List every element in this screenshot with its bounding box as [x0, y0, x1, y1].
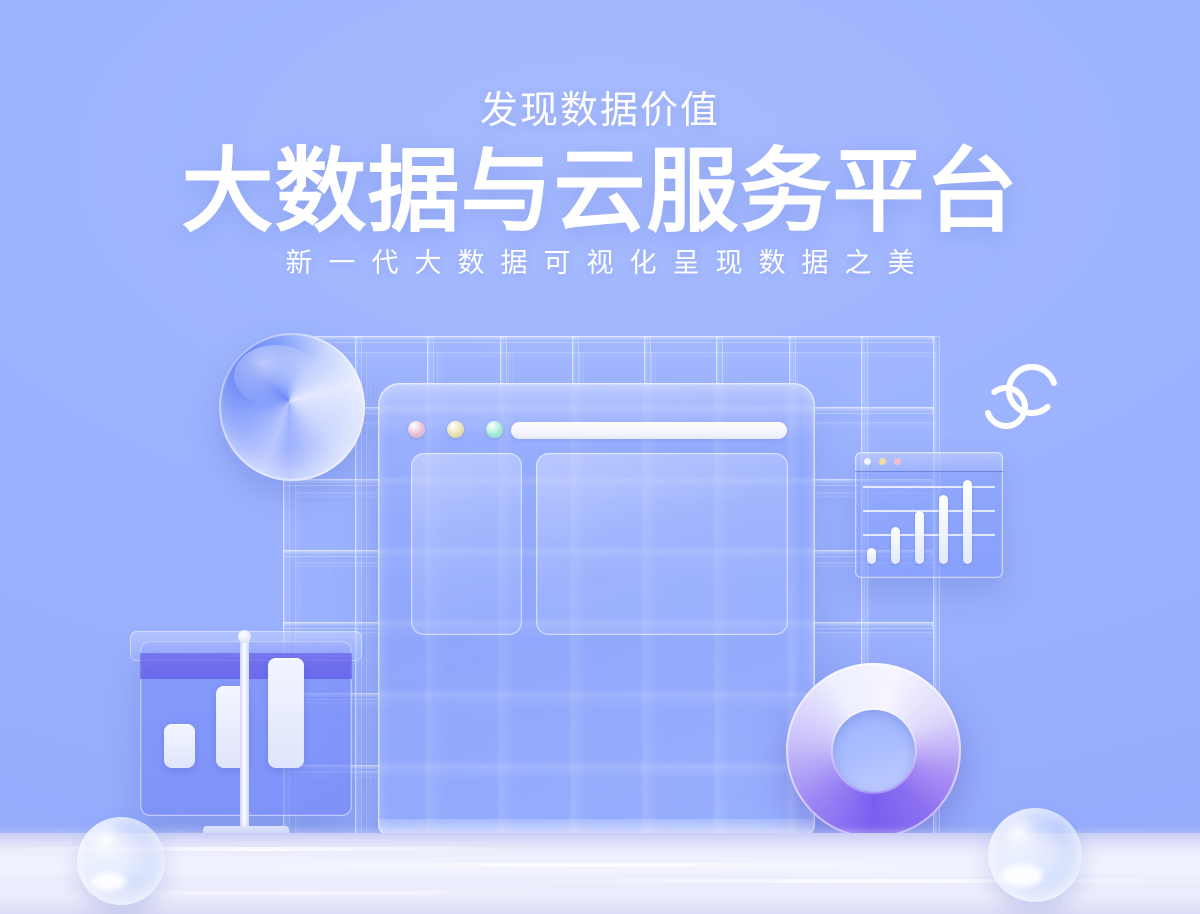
close-dot[interactable] [408, 421, 425, 438]
traffic-lights [408, 421, 503, 438]
chart-bar [891, 527, 900, 564]
gridline-1 [863, 486, 995, 488]
card-dot-yellow[interactable] [879, 458, 886, 465]
content-pane[interactable] [536, 453, 788, 635]
minimize-dot[interactable] [447, 421, 464, 438]
hero-subline: 新一代大数据可视化呈现数据之美 [0, 250, 1200, 277]
monitor-pole [240, 635, 249, 840]
address-bar[interactable] [511, 422, 787, 439]
analytics-card[interactable] [855, 452, 1003, 578]
card-dot-white[interactable] [864, 458, 871, 465]
glass-sphere-right [988, 808, 1082, 902]
cloud-icon [975, 361, 1067, 433]
monitor-pole-cap [238, 630, 251, 643]
donut-ring-hole [832, 709, 914, 791]
chart-bar [939, 495, 948, 564]
glass-disc [219, 333, 365, 481]
analytics-card-dots [864, 458, 901, 465]
chart-bar [867, 548, 876, 564]
card-dot-pink[interactable] [894, 458, 901, 465]
lattice-bar-horizontal [283, 336, 933, 343]
disc-highlight [234, 345, 319, 407]
gridline-2 [863, 510, 995, 512]
monitor-bar [164, 724, 195, 768]
hero-eyebrow: 发现数据价值 [0, 0, 1200, 130]
sidebar-pane[interactable] [411, 453, 522, 635]
hero-text: 发现数据价值 大数据与云服务平台 新一代大数据可视化呈现数据之美 [0, 0, 1200, 277]
lattice-bar-horizontal [295, 352, 935, 357]
chart-bar [963, 480, 972, 564]
glass-sphere-left [77, 817, 165, 905]
chart-bar [915, 511, 924, 564]
donut-ring [786, 663, 961, 838]
monitor-bar [268, 658, 304, 768]
gridline-3 [863, 534, 995, 536]
hero-headline: 大数据与云服务平台 [0, 146, 1200, 240]
browser-mockup[interactable] [378, 383, 815, 835]
hero-banner: 发现数据价值 大数据与云服务平台 新一代大数据可视化呈现数据之美 [0, 0, 1200, 914]
maximize-dot[interactable] [486, 421, 503, 438]
